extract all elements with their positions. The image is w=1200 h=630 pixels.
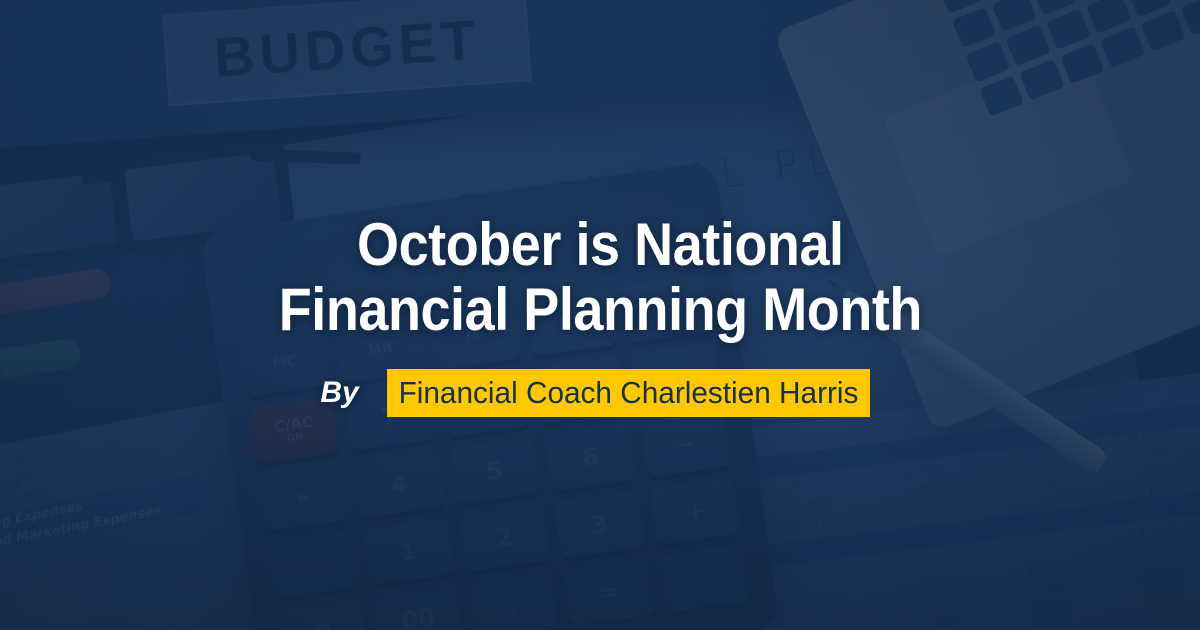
author-name-badge: Financial Coach Charlestien Harris bbox=[387, 369, 870, 417]
headline-line-1: October is National bbox=[278, 213, 921, 278]
byline-by-label: By bbox=[320, 376, 358, 410]
banner-content: October is National Financial Planning M… bbox=[0, 0, 1200, 630]
promo-banner: FINANCIAL PLAN 289,01510,200800280,01575… bbox=[0, 0, 1200, 630]
byline: By Financial Coach Charlestien Harris bbox=[320, 369, 879, 417]
headline-line-2: Financial Planning Month bbox=[278, 278, 921, 343]
page-title: October is National Financial Planning M… bbox=[278, 213, 921, 343]
